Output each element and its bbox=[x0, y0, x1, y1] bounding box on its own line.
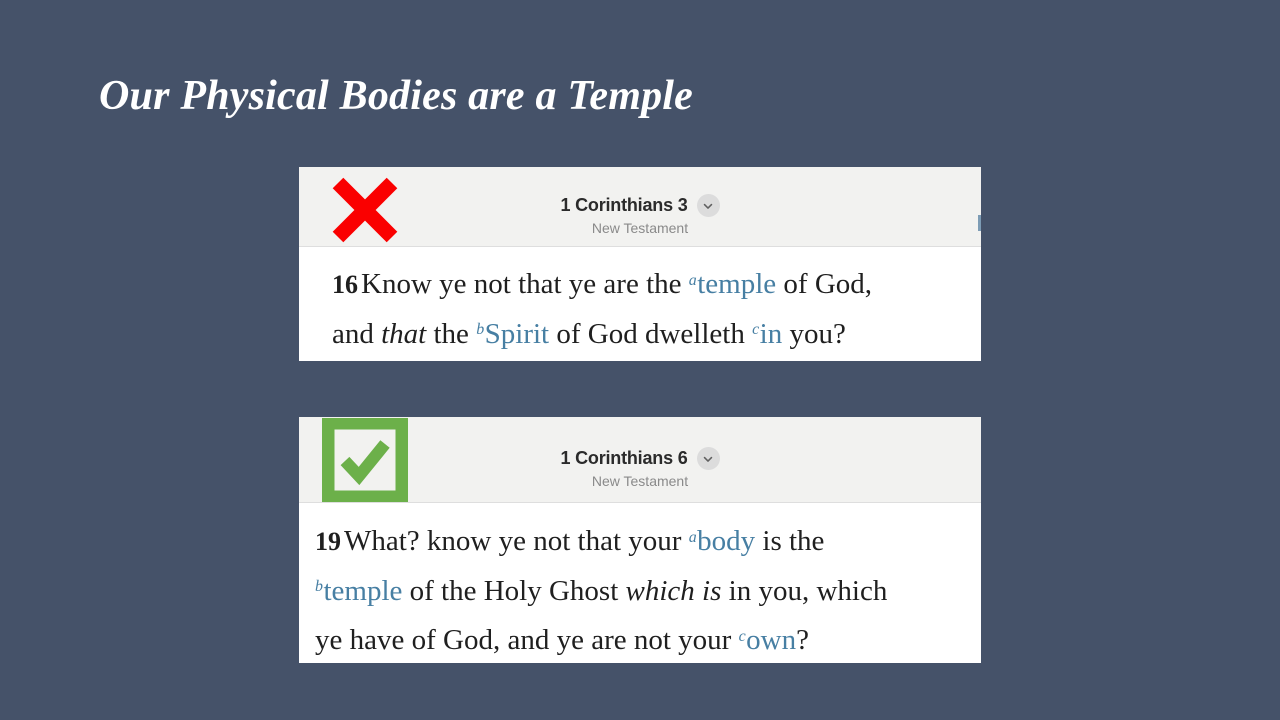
verse-line-content: and that the bSpirit of God dwelleth cin… bbox=[332, 318, 846, 350]
verse-text: What? know ye not that your bbox=[344, 525, 689, 557]
verse-line-content: btemple of the Holy Ghost which is in yo… bbox=[315, 575, 887, 607]
verse-emphasis: which is bbox=[626, 575, 722, 607]
verse-text: the bbox=[426, 318, 476, 350]
footnote-marker[interactable]: b bbox=[315, 578, 323, 595]
verse-text: of God, bbox=[776, 268, 872, 300]
verse-line: btemple of the Holy Ghost which is in yo… bbox=[315, 564, 975, 613]
chevron-down-icon[interactable] bbox=[697, 447, 720, 470]
verse-line: 19What? know ye not that your abody is t… bbox=[315, 515, 975, 564]
verse-line-content: Know ye not that ye are the atemple of G… bbox=[361, 268, 872, 300]
scripture-card: 1 Corinthians 6 New Testament 19What? kn… bbox=[299, 417, 981, 663]
verse-body: 19What? know ye not that your abody is t… bbox=[299, 503, 981, 663]
verse-body: 16Know ye not that ye are the atemple of… bbox=[299, 247, 981, 357]
verse-number: 16 bbox=[332, 270, 358, 299]
verse-text: is the bbox=[755, 525, 824, 557]
chevron-down-icon[interactable] bbox=[697, 194, 720, 217]
verse-text: of the Holy Ghost bbox=[402, 575, 625, 607]
scripture-card-header: 1 Corinthians 6 New Testament bbox=[299, 417, 981, 503]
verse-text: Know ye not that ye are the bbox=[361, 268, 689, 300]
verse-line-content: What? know ye not that your abody is the bbox=[344, 525, 824, 557]
scripture-link[interactable]: own bbox=[746, 624, 796, 656]
verse-text: ye have of God, and ye are not your bbox=[315, 624, 739, 656]
scripture-link[interactable]: in bbox=[760, 318, 783, 350]
chapter-heading: 1 Corinthians 3 New Testament bbox=[299, 194, 981, 236]
testament-label: New Testament bbox=[299, 473, 981, 489]
testament-label: New Testament bbox=[299, 220, 981, 236]
scripture-link[interactable]: temple bbox=[697, 268, 776, 300]
footnote-marker[interactable]: a bbox=[689, 529, 697, 546]
verse-text: in you, which bbox=[721, 575, 887, 607]
verse-line: and that the bSpirit of God dwelleth cin… bbox=[332, 307, 955, 356]
footnote-marker[interactable]: c bbox=[739, 628, 746, 645]
verse-text: ? bbox=[796, 624, 809, 656]
footnote-marker[interactable]: a bbox=[689, 272, 697, 289]
chapter-title: 1 Corinthians 3 bbox=[560, 195, 687, 216]
chapter-title: 1 Corinthians 6 bbox=[560, 448, 687, 469]
footnote-marker[interactable]: c bbox=[752, 321, 759, 338]
scripture-link[interactable]: Spirit bbox=[485, 318, 549, 350]
scripture-link[interactable]: temple bbox=[323, 575, 402, 607]
scripture-card-header: 1 Corinthians 3 New Testament bbox=[299, 167, 981, 247]
verse-line-content: ye have of God, and ye are not your cown… bbox=[315, 624, 809, 656]
slide-canvas: Our Physical Bodies are a Temple 1 Corin… bbox=[0, 0, 1280, 720]
scripture-card: 1 Corinthians 3 New Testament 16Know ye … bbox=[299, 167, 981, 361]
verse-emphasis: that bbox=[381, 318, 426, 350]
verse-text: you? bbox=[782, 318, 846, 350]
chapter-heading: 1 Corinthians 6 New Testament bbox=[299, 447, 981, 489]
cutoff-edge-marker bbox=[978, 215, 981, 231]
verse-line: ye have of God, and ye are not your cown… bbox=[315, 614, 975, 663]
page-title: Our Physical Bodies are a Temple bbox=[99, 72, 693, 120]
verse-text: of God dwelleth bbox=[549, 318, 752, 350]
verse-number: 19 bbox=[315, 527, 341, 556]
scripture-link[interactable]: body bbox=[697, 525, 755, 557]
footnote-marker[interactable]: b bbox=[476, 321, 484, 338]
verse-line: 16Know ye not that ye are the atemple of… bbox=[332, 258, 955, 307]
verse-text: and bbox=[332, 318, 381, 350]
